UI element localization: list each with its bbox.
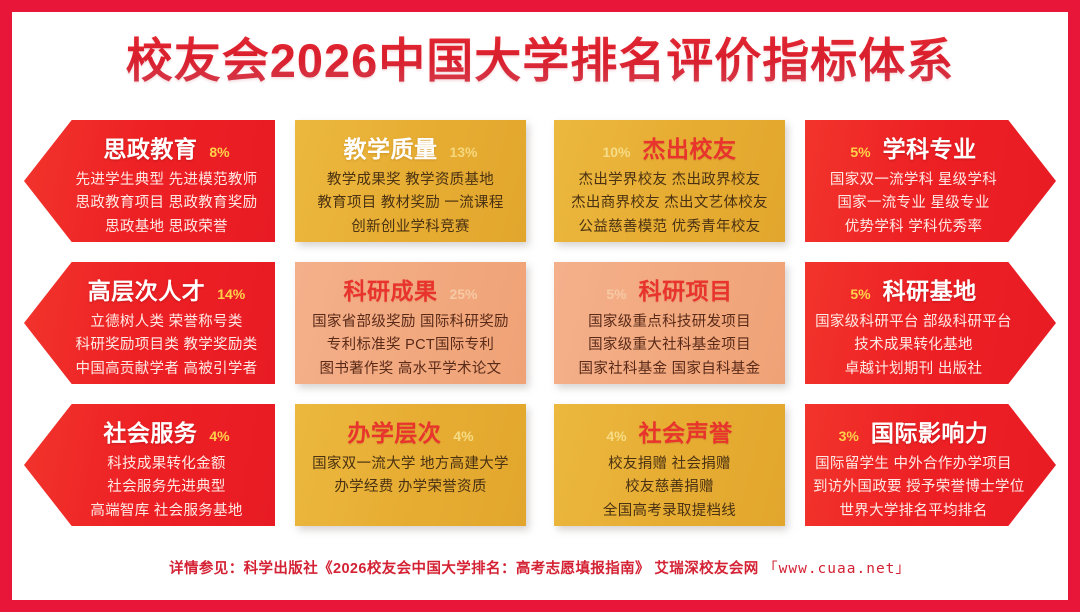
card-title: 社会服务 — [103, 414, 197, 448]
indicator-card-gaocengci-rencai[interactable]: 高层次人才14%立德树人类 荣誉称号类科研奖励项目类 教学奖励类中国高贡献学者 … — [24, 262, 275, 384]
card-title: 科研成果 — [343, 272, 437, 306]
footer-org: 艾瑞深校友会网 — [654, 561, 758, 577]
card-indicator-list: 教学成果奖 教学资质基地教育项目 教材奖励 一流课程创新创业学科竞赛 — [303, 169, 518, 239]
card-indicator-line: 校友慈善捐赠 — [562, 476, 777, 499]
indicator-card-keyan-chengguo[interactable]: 科研成果25%国家省部级奖励 国际科研奖励专利标准奖 PCT国际专利图书著作奖 … — [295, 262, 526, 384]
indicator-card-xueke-zhuanye[interactable]: 5%学科专业国家双一流学科 星级学科国家一流专业 星级专业优势学科 学科优秀率 — [805, 120, 1056, 242]
card-weight-percent: 14% — [217, 286, 245, 302]
card-indicator-line: 国家社科基金 国家自科基金 — [562, 358, 777, 381]
indicator-card-shehui-fuwu[interactable]: 社会服务4%科技成果转化金额社会服务先进典型高端智库 社会服务基地 — [24, 404, 275, 526]
card-header: 5%学科专业 — [813, 130, 1014, 164]
card-indicator-list: 国家级科研平台 部级科研平台技术成果转化基地卓越计划期刊 出版社 — [813, 311, 1014, 381]
card-indicator-list: 国家级重点科技研发项目国家级重大社科基金项目国家社科基金 国家自科基金 — [562, 311, 777, 381]
indicator-card-sizheng-jiaoyu[interactable]: 思政教育8%先进学生典型 先进模范教师思政教育项目 思政教育奖励思政基地 思政荣… — [24, 120, 275, 242]
card-indicator-line: 社会服务先进典型 — [66, 476, 267, 499]
card-weight-percent: 10% — [602, 144, 630, 160]
card-header: 5%科研项目 — [562, 272, 777, 306]
card-indicator-line: 杰出商界校友 杰出文艺体校友 — [562, 192, 777, 215]
card-indicator-list: 国际留学生 中外合作办学项目到访外国政要 授予荣誉博士学位世界大学排名平均排名 — [813, 453, 1014, 523]
card-header: 5%科研基地 — [813, 272, 1014, 306]
card-indicator-line: 公益慈善模范 优秀青年校友 — [562, 216, 777, 239]
card-indicator-line: 技术成果转化基地 — [813, 334, 1014, 357]
card-indicator-line: 国家级科研平台 部级科研平台 — [813, 311, 1014, 334]
card-indicator-line: 教学成果奖 教学资质基地 — [303, 169, 518, 192]
card-indicator-line: 校友捐赠 社会捐赠 — [562, 453, 777, 476]
card-header: 高层次人才14% — [66, 272, 267, 306]
indicator-grid: 思政教育8%先进学生典型 先进模范教师思政教育项目 思政教育奖励思政基地 思政荣… — [22, 114, 1058, 532]
card-header: 科研成果25% — [303, 272, 518, 306]
card-indicator-line: 到访外国政要 授予荣誉博士学位 — [813, 476, 1014, 499]
grid-cell: 科研成果25%国家省部级奖励 国际科研奖励专利标准奖 PCT国际专利图书著作奖 … — [281, 256, 540, 390]
card-title: 办学层次 — [347, 414, 441, 448]
card-title: 社会声誉 — [639, 414, 733, 448]
card-indicator-list: 国家双一流大学 地方高建大学办学经费 办学荣誉资质 — [303, 453, 518, 500]
poster-frame: 校友会2026中国大学排名评价指标体系 思政教育8%先进学生典型 先进模范教师思… — [12, 12, 1068, 600]
card-indicator-line: 国家一流专业 星级专业 — [813, 192, 1014, 215]
card-indicator-list: 校友捐赠 社会捐赠校友慈善捐赠全国高考录取提档线 — [562, 453, 777, 523]
card-header: 思政教育8% — [66, 130, 267, 164]
card-indicator-line: 科技成果转化金额 — [66, 453, 267, 476]
card-indicator-line: 世界大学排名平均排名 — [813, 500, 1014, 523]
grid-cell: 5%科研项目国家级重点科技研发项目国家级重大社科基金项目国家社科基金 国家自科基… — [540, 256, 799, 390]
indicator-card-keyan-jidi[interactable]: 5%科研基地国家级科研平台 部级科研平台技术成果转化基地卓越计划期刊 出版社 — [805, 262, 1056, 384]
card-indicator-line: 立德树人类 荣誉称号类 — [66, 311, 267, 334]
card-indicator-line: 科研奖励项目类 教学奖励类 — [66, 334, 267, 357]
card-indicator-line: 思政基地 思政荣誉 — [66, 216, 267, 239]
grid-cell: 思政教育8%先进学生典型 先进模范教师思政教育项目 思政教育奖励思政基地 思政荣… — [22, 114, 281, 248]
card-title: 教学质量 — [343, 130, 437, 164]
card-indicator-line: 杰出学界校友 杰出政界校友 — [562, 169, 777, 192]
card-indicator-line: 全国高考录取提档线 — [562, 500, 777, 523]
card-title: 学科专业 — [883, 130, 977, 164]
footer-source-text: 详情参见：科学出版社《2026校友会中国大学排名：高考志愿填报指南》 — [169, 561, 650, 577]
footer: 详情参见：科学出版社《2026校友会中国大学排名：高考志愿填报指南》 艾瑞深校友… — [12, 557, 1068, 578]
card-indicator-line: 教育项目 教材奖励 一流课程 — [303, 192, 518, 215]
card-weight-percent: 4% — [453, 428, 473, 444]
card-indicator-line: 国家级重点科技研发项目 — [562, 311, 777, 334]
card-indicator-line: 中国高贡献学者 高被引学者 — [66, 358, 267, 381]
card-indicator-list: 立德树人类 荣誉称号类科研奖励项目类 教学奖励类中国高贡献学者 高被引学者 — [66, 311, 267, 381]
card-indicator-line: 高端智库 社会服务基地 — [66, 500, 267, 523]
card-indicator-list: 国家双一流学科 星级学科国家一流专业 星级专业优势学科 学科优秀率 — [813, 169, 1014, 239]
card-indicator-line: 国家双一流大学 地方高建大学 — [303, 453, 518, 476]
indicator-card-shehui-shengyu[interactable]: 4%社会声誉校友捐赠 社会捐赠校友慈善捐赠全国高考录取提档线 — [554, 404, 785, 526]
card-title: 科研基地 — [883, 272, 977, 306]
card-header: 社会服务4% — [66, 414, 267, 448]
card-weight-percent: 4% — [209, 428, 229, 444]
card-indicator-line: 国家双一流学科 星级学科 — [813, 169, 1014, 192]
card-indicator-line: 创新创业学科竞赛 — [303, 216, 518, 239]
page-title: 校友会2026中国大学排名评价指标体系 — [12, 36, 1068, 85]
card-indicator-list: 国家省部级奖励 国际科研奖励专利标准奖 PCT国际专利图书著作奖 高水平学术论文 — [303, 311, 518, 381]
card-title: 科研项目 — [639, 272, 733, 306]
footer-bracket-close: 」 — [895, 561, 911, 577]
card-header: 4%社会声誉 — [562, 414, 777, 448]
grid-cell: 5%科研基地国家级科研平台 部级科研平台技术成果转化基地卓越计划期刊 出版社 — [799, 256, 1058, 390]
grid-cell: 4%社会声誉校友捐赠 社会捐赠校友慈善捐赠全国高考录取提档线 — [540, 398, 799, 532]
card-indicator-line: 国家省部级奖励 国际科研奖励 — [303, 311, 518, 334]
grid-cell: 高层次人才14%立德树人类 荣誉称号类科研奖励项目类 教学奖励类中国高贡献学者 … — [22, 256, 281, 390]
grid-cell: 10%杰出校友杰出学界校友 杰出政界校友杰出商界校友 杰出文艺体校友公益慈善模范… — [540, 114, 799, 248]
card-indicator-line: 卓越计划期刊 出版社 — [813, 358, 1014, 381]
card-indicator-line: 办学经费 办学荣誉资质 — [303, 476, 518, 499]
card-weight-percent: 5% — [850, 144, 870, 160]
card-indicator-line: 先进学生典型 先进模范教师 — [66, 169, 267, 192]
card-indicator-line: 优势学科 学科优秀率 — [813, 216, 1014, 239]
grid-cell: 办学层次4%国家双一流大学 地方高建大学办学经费 办学荣誉资质 — [281, 398, 540, 532]
card-indicator-list: 先进学生典型 先进模范教师思政教育项目 思政教育奖励思政基地 思政荣誉 — [66, 169, 267, 239]
card-title: 杰出校友 — [643, 130, 737, 164]
grid-cell: 社会服务4%科技成果转化金额社会服务先进典型高端智库 社会服务基地 — [22, 398, 281, 532]
card-weight-percent: 5% — [850, 286, 870, 302]
card-indicator-list: 杰出学界校友 杰出政界校友杰出商界校友 杰出文艺体校友公益慈善模范 优秀青年校友 — [562, 169, 777, 239]
page-title-text: 校友会2026中国大学排名评价指标体系 — [126, 36, 955, 85]
card-indicator-line: 思政教育项目 思政教育奖励 — [66, 192, 267, 215]
card-weight-percent: 8% — [209, 144, 229, 160]
card-weight-percent: 25% — [449, 286, 477, 302]
grid-cell: 5%学科专业国家双一流学科 星级学科国家一流专业 星级专业优势学科 学科优秀率 — [799, 114, 1058, 248]
footer-bracket-open: 「 — [763, 561, 779, 577]
card-weight-percent: 4% — [606, 428, 626, 444]
card-indicator-line: 国家级重大社科基金项目 — [562, 334, 777, 357]
card-weight-percent: 3% — [839, 428, 859, 444]
indicator-card-guoji-yingxiangli[interactable]: 3%国际影响力国际留学生 中外合作办学项目到访外国政要 授予荣誉博士学位世界大学… — [805, 404, 1056, 526]
card-header: 10%杰出校友 — [562, 130, 777, 164]
indicator-card-banxue-cengci[interactable]: 办学层次4%国家双一流大学 地方高建大学办学经费 办学荣誉资质 — [295, 404, 526, 526]
card-title: 高层次人才 — [88, 272, 206, 306]
card-indicator-line: 图书著作奖 高水平学术论文 — [303, 358, 518, 381]
card-header: 3%国际影响力 — [813, 414, 1014, 448]
indicator-card-jiaoxue-zhiliang[interactable]: 教学质量13%教学成果奖 教学资质基地教育项目 教材奖励 一流课程创新创业学科竞… — [295, 120, 526, 242]
card-weight-percent: 5% — [606, 286, 626, 302]
card-title: 思政教育 — [103, 130, 197, 164]
card-header: 教学质量13% — [303, 130, 518, 164]
grid-cell: 3%国际影响力国际留学生 中外合作办学项目到访外国政要 授予荣誉博士学位世界大学… — [799, 398, 1058, 532]
card-header: 办学层次4% — [303, 414, 518, 448]
card-title: 国际影响力 — [871, 414, 989, 448]
card-indicator-list: 科技成果转化金额社会服务先进典型高端智库 社会服务基地 — [66, 453, 267, 523]
card-indicator-line: 国际留学生 中外合作办学项目 — [813, 453, 1014, 476]
card-weight-percent: 13% — [449, 144, 477, 160]
card-indicator-line: 专利标准奖 PCT国际专利 — [303, 334, 518, 357]
indicator-card-jiechu-xiaoyou[interactable]: 10%杰出校友杰出学界校友 杰出政界校友杰出商界校友 杰出文艺体校友公益慈善模范… — [554, 120, 785, 242]
grid-cell: 教学质量13%教学成果奖 教学资质基地教育项目 教材奖励 一流课程创新创业学科竞… — [281, 114, 540, 248]
indicator-card-keyan-xiangmu[interactable]: 5%科研项目国家级重点科技研发项目国家级重大社科基金项目国家社科基金 国家自科基… — [554, 262, 785, 384]
footer-url[interactable]: www.cuaa.net — [779, 561, 896, 577]
